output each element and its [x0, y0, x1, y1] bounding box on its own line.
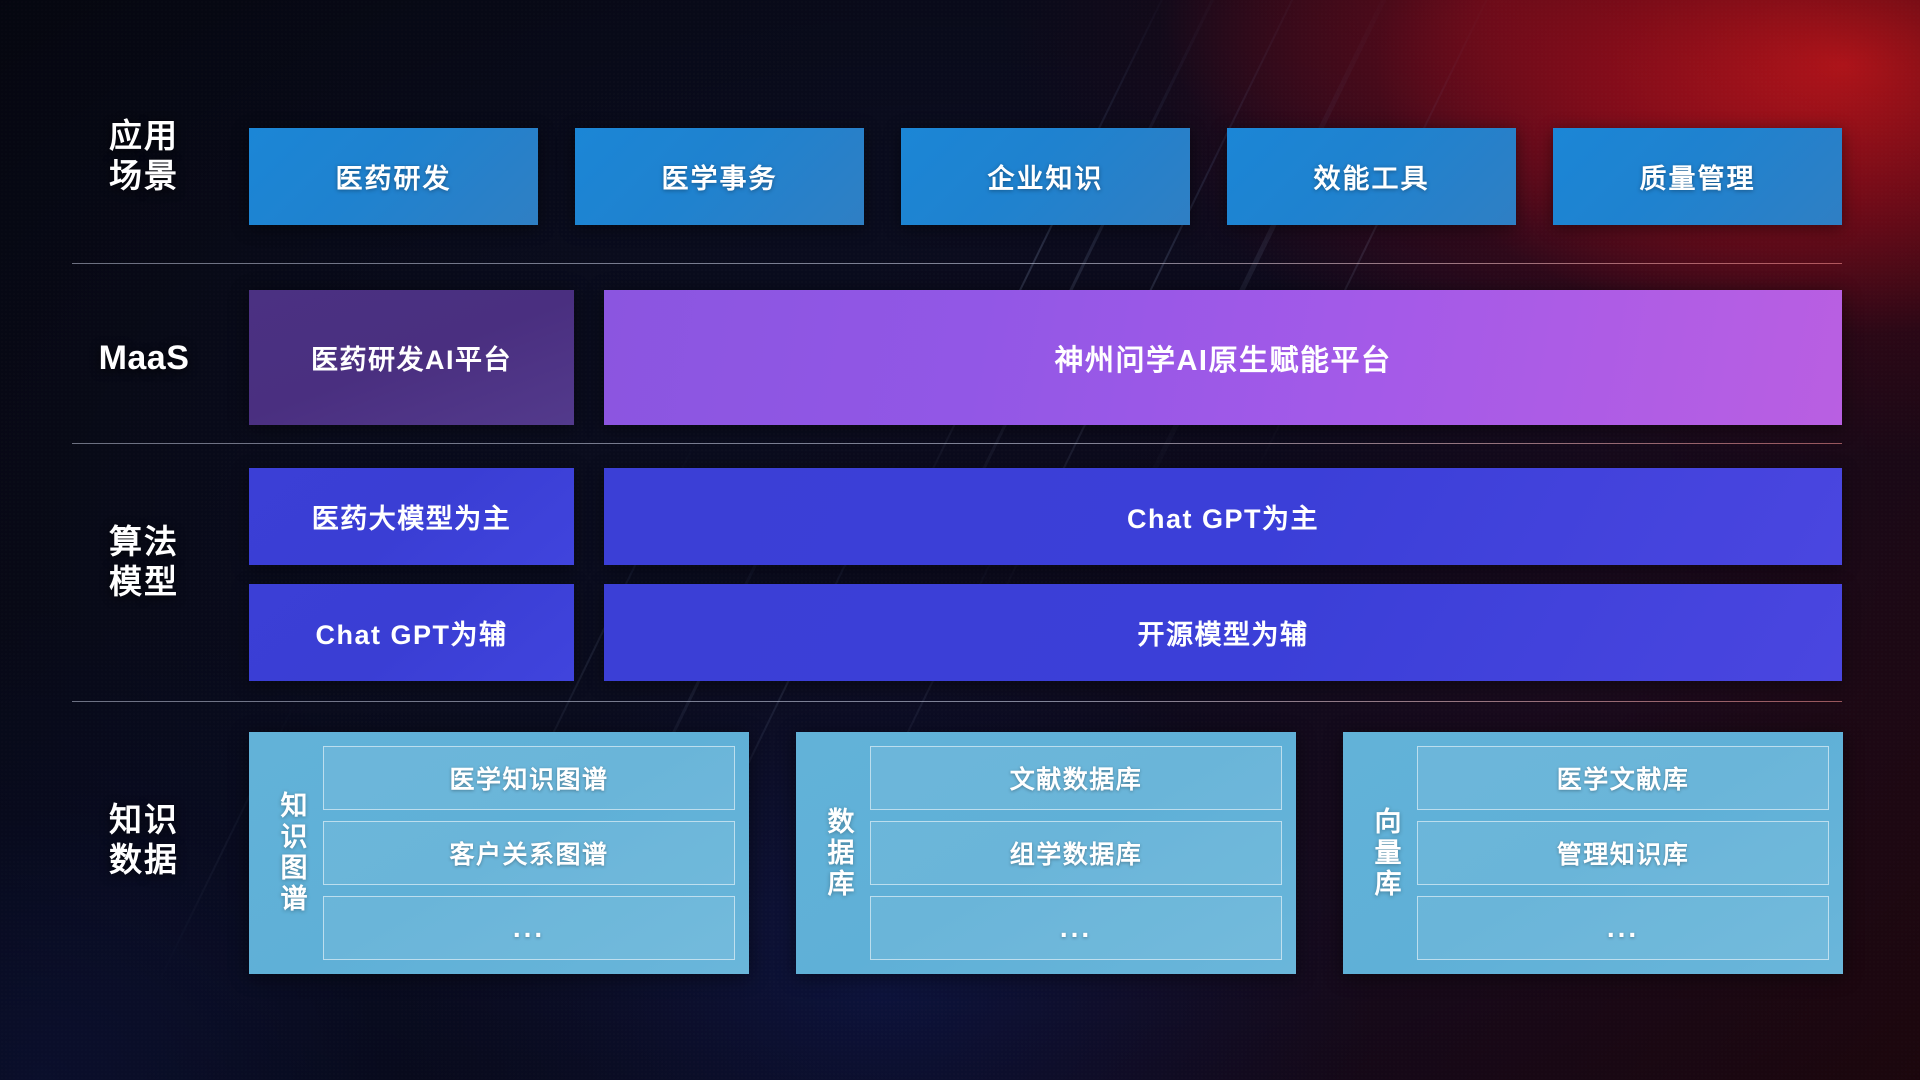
knowledge-group-label-knowledge-graph: 知识图谱: [259, 746, 323, 960]
app-card-medical-affairs[interactable]: 医学事务: [575, 128, 864, 225]
row-label-algorithm-models: 算法 模型: [78, 522, 210, 603]
row-label-line-2: 场景: [78, 156, 210, 196]
knowledge-item-literature-database[interactable]: 文献数据库: [870, 746, 1282, 810]
algo-bar-chatgpt-primary[interactable]: Chat GPT为主: [604, 468, 1842, 565]
row-label-line-2: 模型: [78, 562, 210, 602]
knowledge-group-items: 文献数据库 组学数据库 ...: [870, 746, 1282, 960]
knowledge-group-items: 医学文献库 管理知识库 ...: [1417, 746, 1829, 960]
knowledge-item-more-vector-store[interactable]: ...: [1417, 896, 1829, 960]
algo-bar-chatgpt-secondary[interactable]: Chat GPT为辅: [249, 584, 574, 681]
knowledge-group-label-vector-store: 向量库: [1353, 746, 1417, 960]
knowledge-group-items: 医学知识图谱 客户关系图谱 ...: [323, 746, 735, 960]
row-label-line-1: 应用: [78, 116, 210, 156]
row-divider-2: [72, 443, 1842, 444]
row-label-line-1: 算法: [78, 522, 210, 562]
knowledge-item-omics-database[interactable]: 组学数据库: [870, 821, 1282, 885]
app-card-enterprise-knowledge[interactable]: 企业知识: [901, 128, 1190, 225]
algo-bar-medicine-large-model-primary[interactable]: 医药大模型为主: [249, 468, 574, 565]
row-label-application-scenarios: 应用 场景: [78, 116, 210, 197]
architecture-grid: 应用 场景 医药研发 医学事务 企业知识 效能工具 质量管理 MaaS 医药研发…: [0, 0, 1920, 1080]
knowledge-item-more-knowledge-graph[interactable]: ...: [323, 896, 735, 960]
app-card-efficiency-tools[interactable]: 效能工具: [1227, 128, 1516, 225]
row-label-line-1: 知识: [78, 800, 210, 840]
knowledge-item-medical-literature-store[interactable]: 医学文献库: [1417, 746, 1829, 810]
knowledge-group-label-database: 数据库: [806, 746, 870, 960]
row-label-line-2: 数据: [78, 840, 210, 880]
algo-bar-opensource-secondary[interactable]: 开源模型为辅: [604, 584, 1842, 681]
app-card-quality-management[interactable]: 质量管理: [1553, 128, 1842, 225]
maas-platform-medicine-rd[interactable]: 医药研发AI平台: [249, 290, 574, 425]
knowledge-group-vector-store[interactable]: 向量库 医学文献库 管理知识库 ...: [1343, 732, 1843, 974]
knowledge-item-more-database[interactable]: ...: [870, 896, 1282, 960]
diagram-canvas: 应用 场景 医药研发 医学事务 企业知识 效能工具 质量管理 MaaS 医药研发…: [0, 0, 1920, 1080]
row-divider-3: [72, 701, 1842, 702]
app-card-medicine-rd[interactable]: 医药研发: [249, 128, 538, 225]
knowledge-group-knowledge-graph[interactable]: 知识图谱 医学知识图谱 客户关系图谱 ...: [249, 732, 749, 974]
knowledge-item-customer-relation-graph[interactable]: 客户关系图谱: [323, 821, 735, 885]
row-label-maas: MaaS: [78, 338, 210, 379]
knowledge-item-management-knowledge-store[interactable]: 管理知识库: [1417, 821, 1829, 885]
knowledge-item-medical-knowledge-graph[interactable]: 医学知识图谱: [323, 746, 735, 810]
maas-platform-shenzhou-wenxue[interactable]: 神州问学AI原生赋能平台: [604, 290, 1842, 425]
row-divider-1: [72, 263, 1842, 264]
row-label-knowledge-data: 知识 数据: [78, 800, 210, 881]
knowledge-group-database[interactable]: 数据库 文献数据库 组学数据库 ...: [796, 732, 1296, 974]
